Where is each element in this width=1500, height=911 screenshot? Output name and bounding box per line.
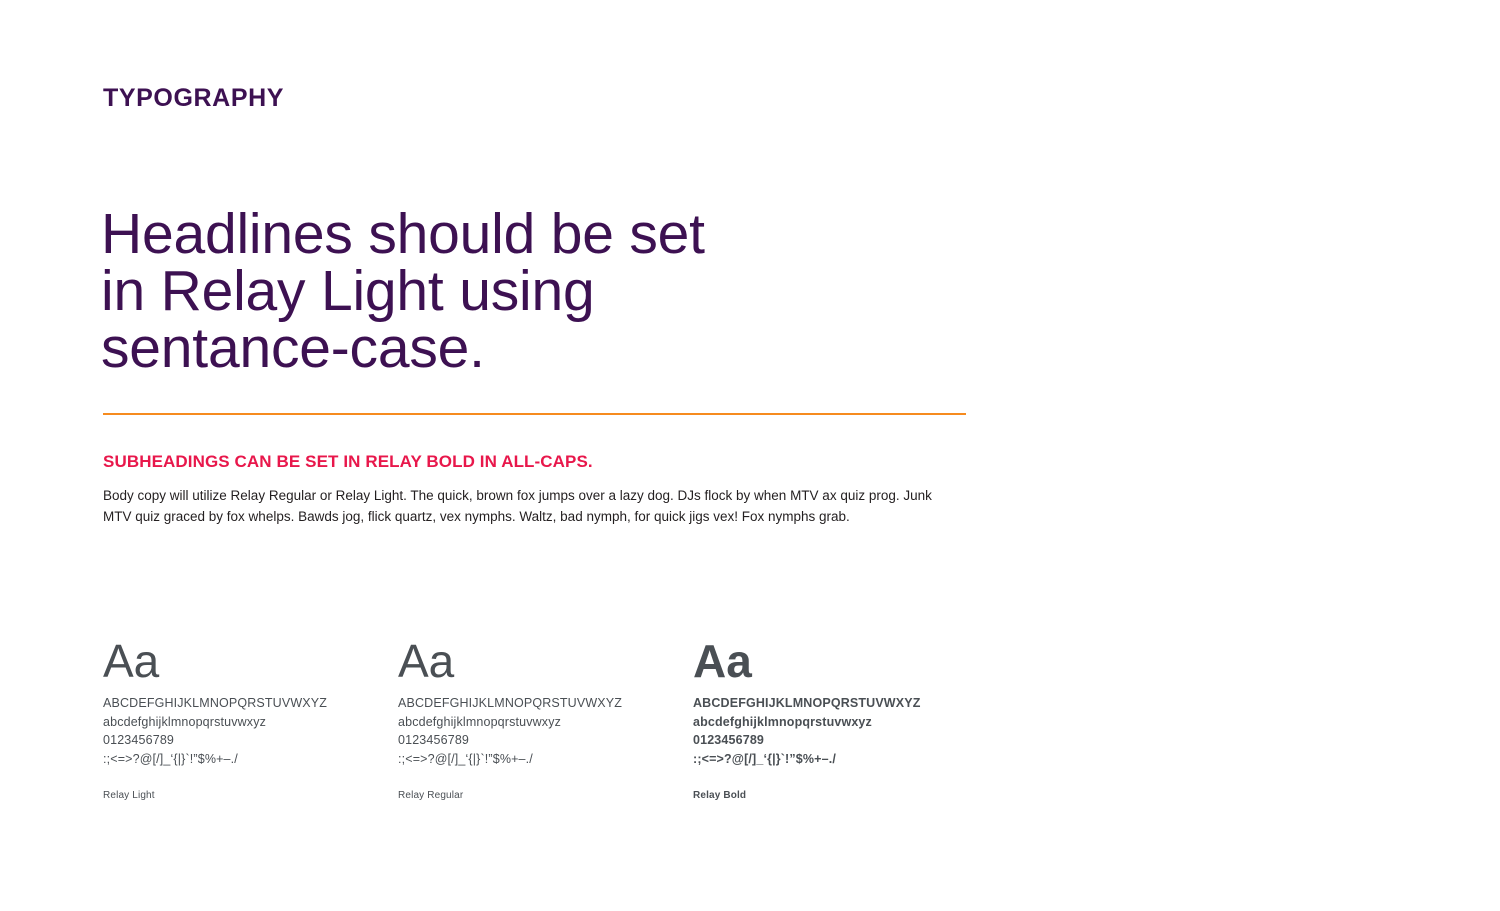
specimen-lowercase: abcdefghijklmnopqrstuvwxyz	[103, 713, 398, 732]
specimen-font-name: Relay Light	[103, 789, 398, 803]
specimen-numerals: 0123456789	[398, 731, 693, 750]
specimen-aa-glyph: Aa	[398, 636, 693, 686]
specimen-uppercase: ABCDEFGHIJKLMNOPQRSTUVWXYZ	[398, 694, 693, 713]
headline-sample: Headlines should be set in Relay Light u…	[101, 206, 1001, 377]
specimen-character-set: ABCDEFGHIJKLMNOPQRSTUVWXYZ abcdefghijklm…	[693, 694, 988, 768]
specimen-aa-glyph: Aa	[693, 636, 988, 686]
specimen-font-name: Relay Regular	[398, 789, 693, 803]
specimen-lowercase: abcdefghijklmnopqrstuvwxyz	[398, 713, 693, 732]
specimen-aa-glyph: Aa	[103, 636, 398, 686]
headline-line-2: in Relay Light using	[101, 263, 1001, 320]
specimen-lowercase: abcdefghijklmnopqrstuvwxyz	[693, 713, 988, 732]
specimen-character-set: ABCDEFGHIJKLMNOPQRSTUVWXYZ abcdefghijklm…	[398, 694, 693, 768]
headline-line-1: Headlines should be set	[101, 206, 1001, 263]
typography-style-guide-page: TYPOGRAPHY Headlines should be set in Re…	[0, 0, 1500, 911]
specimen-character-set: ABCDEFGHIJKLMNOPQRSTUVWXYZ abcdefghijklm…	[103, 694, 398, 768]
headline-line-3: sentance-case.	[101, 320, 1001, 377]
specimen-punctuation: :;<=>?@[/]_‘{|}`!”$%+–./	[693, 750, 988, 769]
body-copy-sample: Body copy will utilize Relay Regular or …	[103, 485, 951, 527]
subheading-sample: SUBHEADINGS CAN BE SET IN RELAY BOLD IN …	[103, 452, 593, 472]
specimen-numerals: 0123456789	[693, 731, 988, 750]
font-specimen-row: Aa ABCDEFGHIJKLMNOPQRSTUVWXYZ abcdefghij…	[103, 636, 1103, 803]
orange-divider-rule	[103, 413, 966, 415]
font-specimen-relay-light: Aa ABCDEFGHIJKLMNOPQRSTUVWXYZ abcdefghij…	[103, 636, 398, 803]
specimen-punctuation: :;<=>?@[/]_‘{|}`!”$%+–./	[103, 750, 398, 769]
specimen-uppercase: ABCDEFGHIJKLMNOPQRSTUVWXYZ	[103, 694, 398, 713]
page-title: TYPOGRAPHY	[103, 86, 284, 111]
specimen-numerals: 0123456789	[103, 731, 398, 750]
specimen-uppercase: ABCDEFGHIJKLMNOPQRSTUVWXYZ	[693, 694, 988, 713]
specimen-punctuation: :;<=>?@[/]_‘{|}`!”$%+–./	[398, 750, 693, 769]
font-specimen-relay-regular: Aa ABCDEFGHIJKLMNOPQRSTUVWXYZ abcdefghij…	[398, 636, 693, 803]
specimen-font-name: Relay Bold	[693, 789, 988, 803]
font-specimen-relay-bold: Aa ABCDEFGHIJKLMNOPQRSTUVWXYZ abcdefghij…	[693, 636, 988, 803]
